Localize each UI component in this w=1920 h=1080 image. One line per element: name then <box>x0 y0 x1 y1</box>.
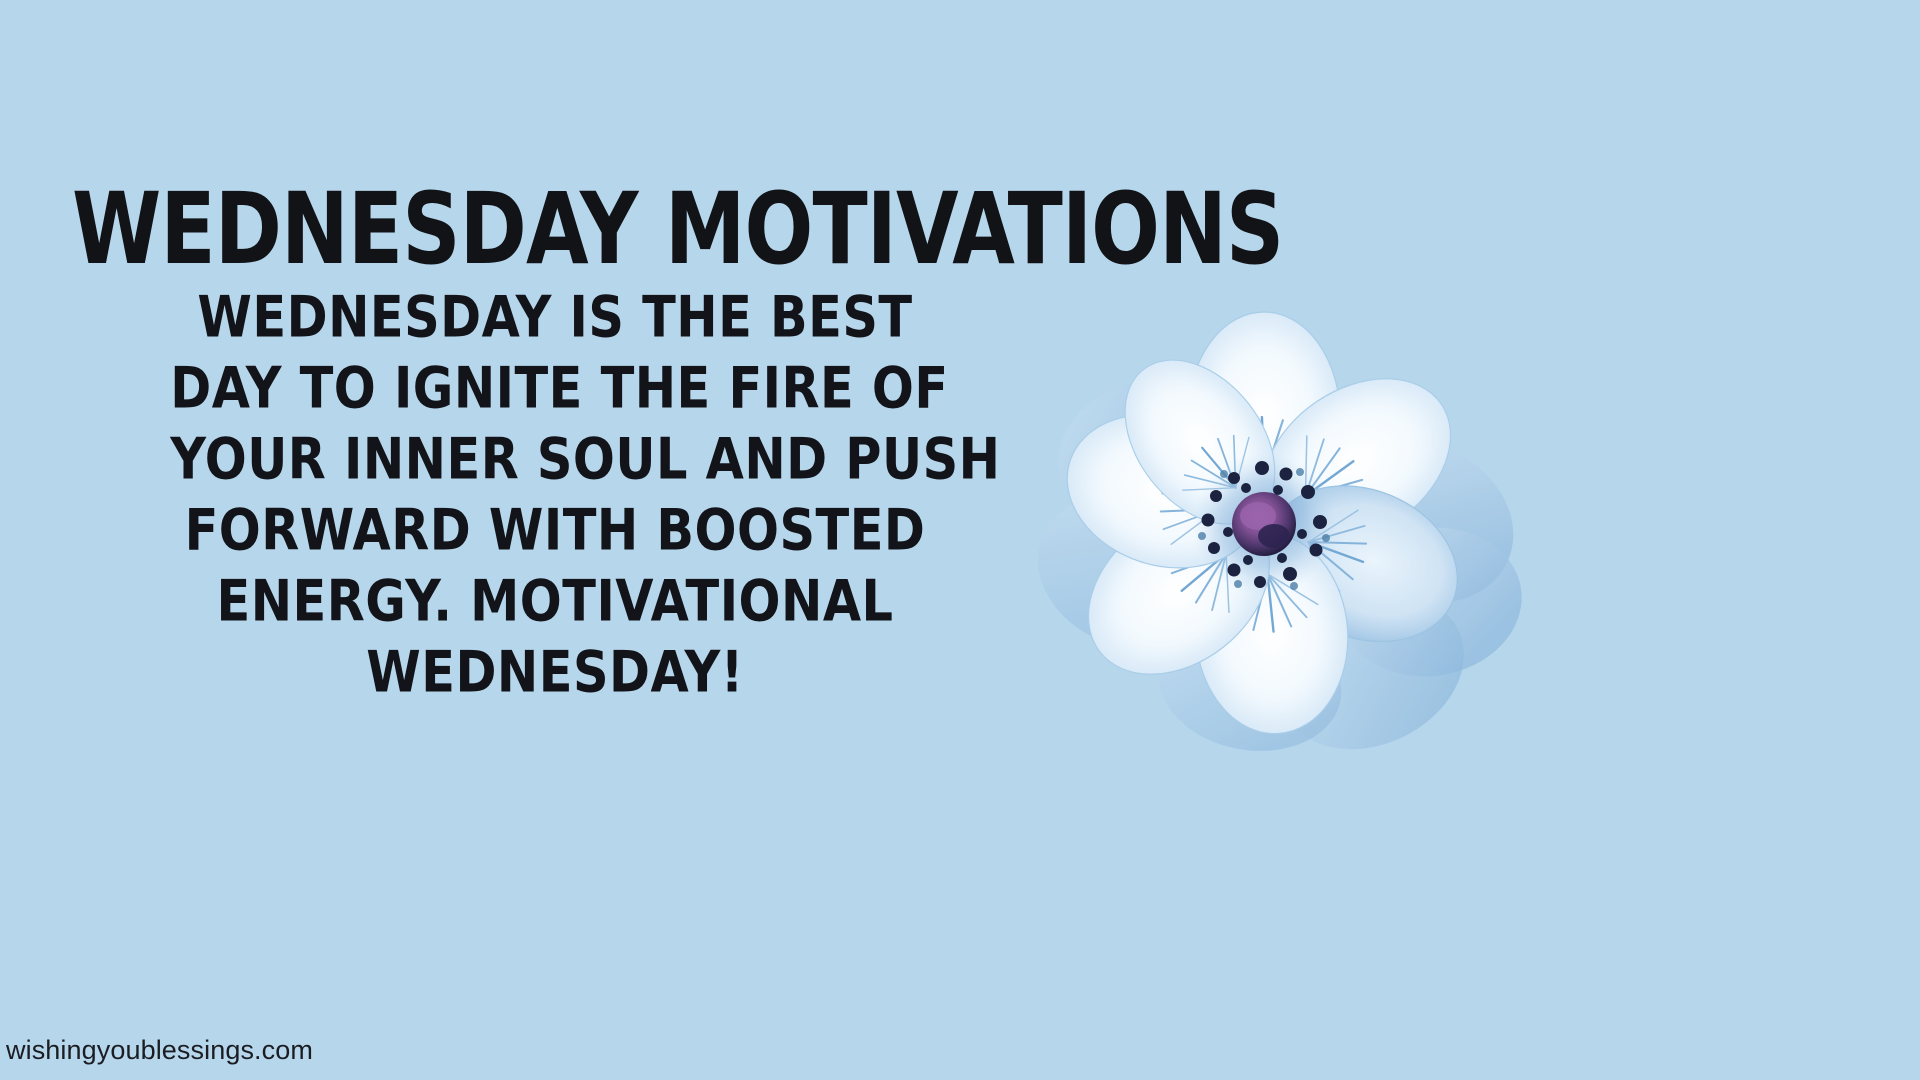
quote-line: YOUR INNER SOUL AND PUSH <box>170 421 940 499</box>
quote-line: FORWARD WITH BOOSTED <box>170 492 940 570</box>
quote-line: WEDNESDAY! <box>170 634 940 712</box>
quote-line: ENERGY. MOTIVATIONAL <box>170 563 940 641</box>
quote-block: WEDNESDAY IS THE BEST DAY TO IGNITE THE … <box>150 283 960 709</box>
page-title: WEDNESDAY MOTIVATIONS <box>72 180 1283 279</box>
quote-line: WEDNESDAY IS THE BEST <box>170 279 940 357</box>
poster-canvas: WEDNESDAY MOTIVATIONS WEDNESDAY IS THE B… <box>0 0 1920 1080</box>
flower-center <box>1192 452 1336 596</box>
site-watermark: wishingyoublessings.com <box>6 1035 313 1066</box>
flower-illustration <box>1000 272 1530 752</box>
anemone-flower-icon <box>1000 272 1530 752</box>
quote-line: DAY TO IGNITE THE FIRE OF <box>170 350 940 428</box>
